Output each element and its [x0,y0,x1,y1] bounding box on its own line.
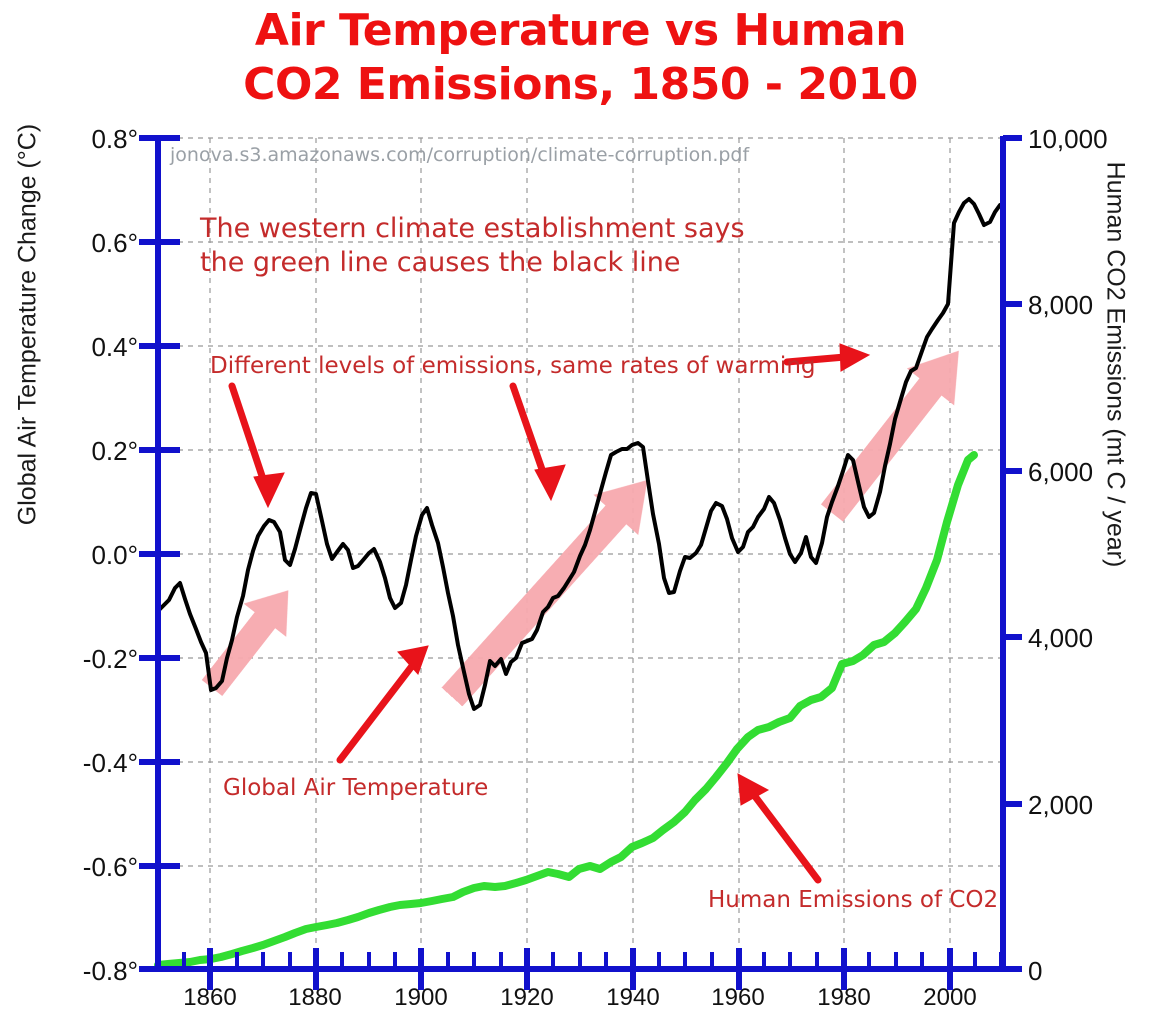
annotation-establishment-claim-line1: The western climate establishment says [200,212,745,246]
pink-trend-arrows [191,332,983,717]
annotation-temperature-label: Global Air Temperature [223,775,488,801]
chart-root: Air Temperature vs Human CO2 Emissions, … [0,0,1161,1024]
annotation-establishment-claim-line2: the green line causes the black line [200,246,745,280]
annotation-emissions-rates: Different levels of emissions, same rate… [210,353,816,379]
annotation-establishment-claim: The western climate establishment says t… [200,212,745,280]
source-url: jonova.s3.amazonaws.com/corruption/clima… [170,144,749,166]
annotation-co2-label: Human Emissions of CO2 [708,887,998,913]
